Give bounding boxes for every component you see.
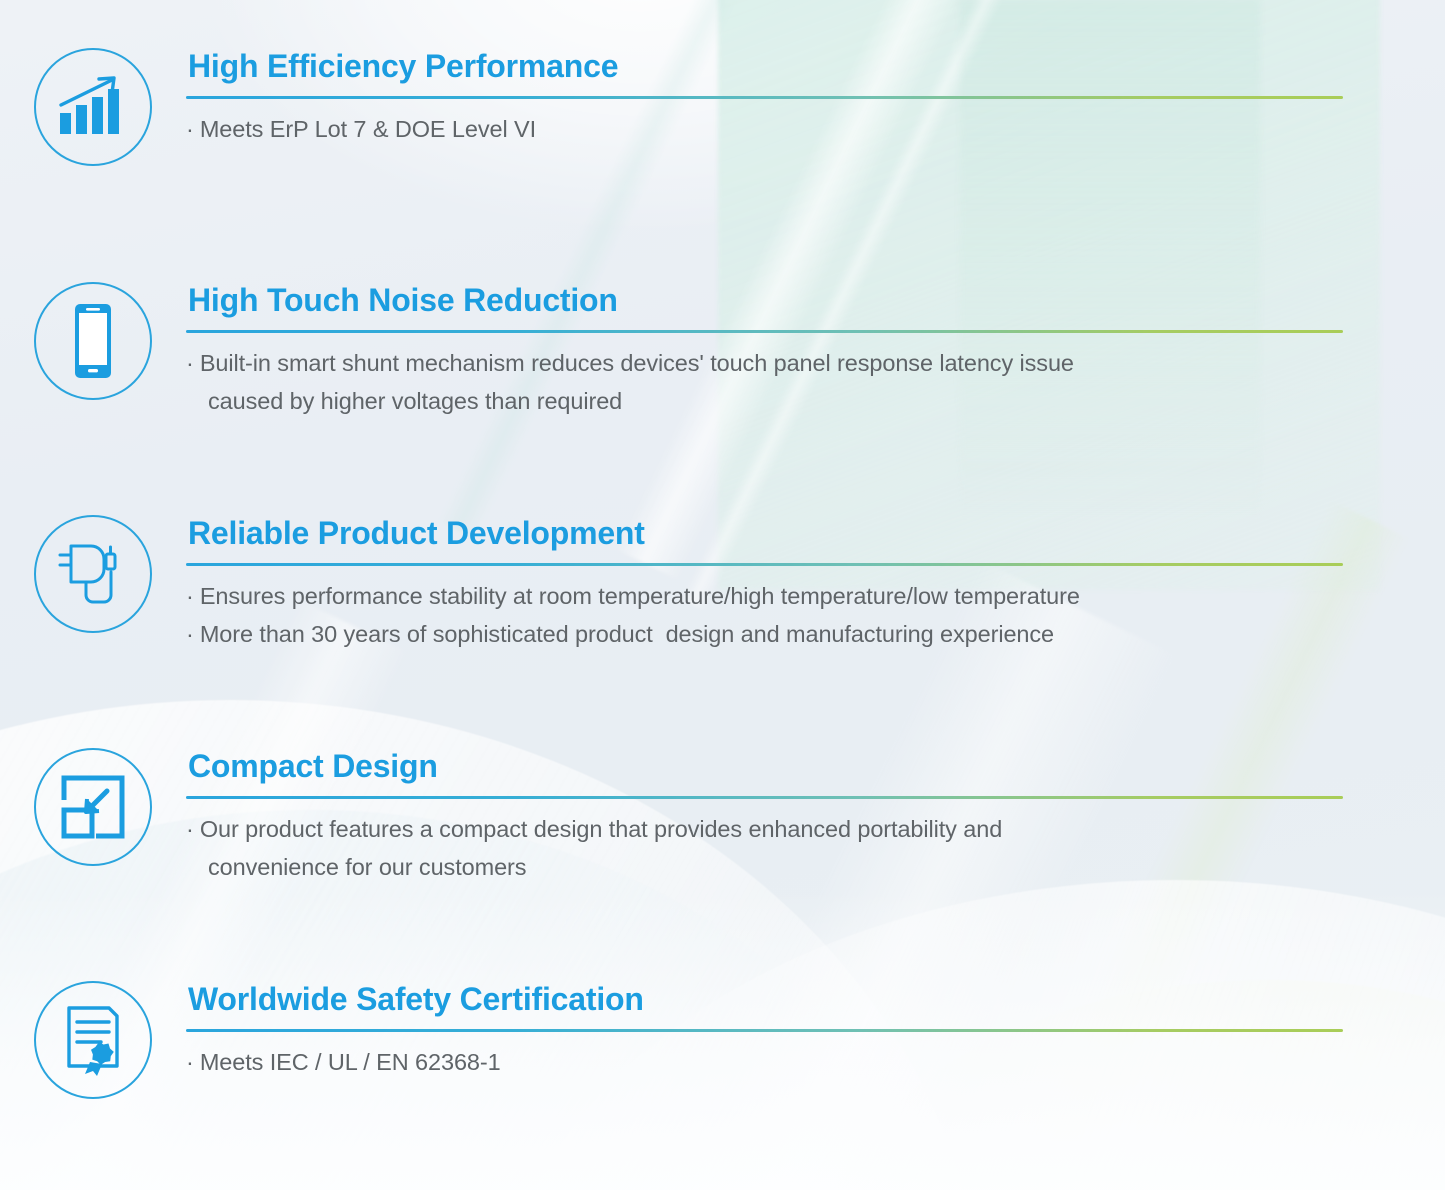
bullet-dot: · (186, 350, 200, 376)
power-adapter-icon (34, 515, 152, 633)
feature-title: High Efficiency Performance (188, 50, 1346, 84)
resize-compact-icon (34, 748, 152, 866)
feature-bullet-text: Built-in smart shunt mechanism reduces d… (200, 350, 1074, 376)
feature-icon-wrap (0, 278, 186, 400)
feature-divider (186, 330, 1343, 333)
feature-bullet-text: convenience for our customers (208, 854, 526, 880)
feature-title: High Touch Noise Reduction (188, 284, 1346, 318)
feature-title: Compact Design (188, 750, 1346, 784)
feature-bullet-text: More than 30 years of sophisticated prod… (200, 621, 1054, 647)
certificate-seal-icon (34, 981, 152, 1099)
feature-icon-wrap (0, 44, 186, 166)
feature-body: High Efficiency Performance ·Meets ErP L… (186, 44, 1346, 148)
feature-bullet-text: caused by higher voltages than required (208, 388, 622, 414)
feature-bullet-line: ·More than 30 years of sophisticated pro… (186, 615, 1346, 653)
feature-bullet-line-continuation: caused by higher voltages than required (186, 382, 1346, 420)
feature-icon-wrap (0, 511, 186, 633)
feature-icon-wrap (0, 977, 186, 1099)
feature-bullet-text: Our product features a compact design th… (200, 816, 1002, 842)
feature-bullet-text: Meets ErP Lot 7 & DOE Level VI (200, 116, 536, 142)
feature-bullet-line-continuation: convenience for our customers (186, 848, 1346, 886)
feature-bullet-line: ·Our product features a compact design t… (186, 810, 1346, 848)
feature-title: Worldwide Safety Certification (188, 983, 1346, 1017)
feature-bullet-text: Ensures performance stability at room te… (200, 583, 1080, 609)
feature-item-high-touch-noise-reduction: High Touch Noise Reduction ·Built-in sma… (0, 278, 1346, 420)
feature-body: Compact Design ·Our product features a c… (186, 744, 1346, 886)
bullet-dot: · (186, 116, 200, 142)
feature-bullet-line: ·Meets ErP Lot 7 & DOE Level VI (186, 110, 1346, 148)
feature-body: High Touch Noise Reduction ·Built-in sma… (186, 278, 1346, 420)
bullet-dot: · (186, 621, 200, 647)
bullet-dot: · (186, 816, 200, 842)
feature-divider (186, 563, 1343, 566)
feature-list: High Efficiency Performance ·Meets ErP L… (0, 0, 1445, 1190)
feature-body: Worldwide Safety Certification ·Meets IE… (186, 977, 1346, 1081)
feature-highlights-panel: High Efficiency Performance ·Meets ErP L… (0, 0, 1445, 1190)
bullet-dot: · (186, 1049, 200, 1075)
feature-bullet-line: ·Built-in smart shunt mechanism reduces … (186, 344, 1346, 382)
feature-divider (186, 96, 1343, 99)
feature-bullet-line: ·Ensures performance stability at room t… (186, 577, 1346, 615)
feature-divider (186, 796, 1343, 799)
feature-item-reliable-product-development: Reliable Product Development ·Ensures pe… (0, 511, 1346, 653)
feature-body: Reliable Product Development ·Ensures pe… (186, 511, 1346, 653)
feature-item-compact-design: Compact Design ·Our product features a c… (0, 744, 1346, 886)
feature-icon-wrap (0, 744, 186, 866)
feature-title: Reliable Product Development (188, 517, 1346, 551)
bullet-dot: · (186, 583, 200, 609)
feature-bullet-text: Meets IEC / UL / EN 62368-1 (200, 1049, 501, 1075)
feature-item-worldwide-safety-certification: Worldwide Safety Certification ·Meets IE… (0, 977, 1346, 1099)
smartphone-icon (34, 282, 152, 400)
bar-chart-growth-icon (34, 48, 152, 166)
feature-item-high-efficiency-performance: High Efficiency Performance ·Meets ErP L… (0, 44, 1346, 166)
feature-divider (186, 1029, 1343, 1032)
feature-bullet-line: ·Meets IEC / UL / EN 62368-1 (186, 1043, 1346, 1081)
